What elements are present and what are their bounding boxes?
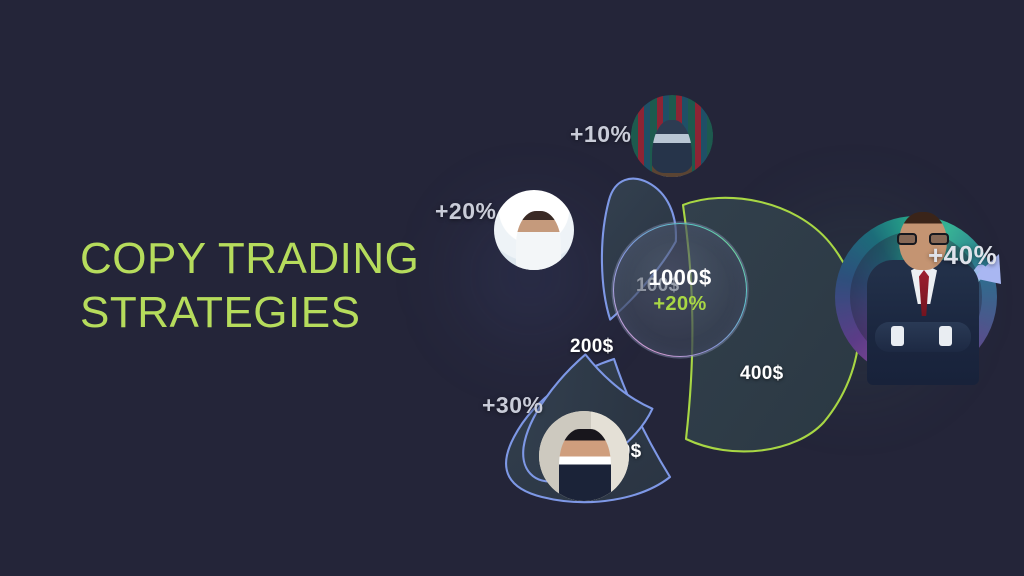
trader-badge-40[interactable]: +40%	[815, 210, 1015, 385]
trader-percent-30: +30%	[482, 392, 543, 419]
portfolio-total-hub[interactable]: 1000$ +20%	[613, 223, 747, 357]
analyst-photo	[631, 95, 713, 177]
trader-avatar-woman[interactable]	[494, 190, 574, 270]
portfolio-total-growth: +20%	[653, 293, 706, 316]
trader-percent-40: +40%	[928, 240, 997, 271]
trader-avatar-man[interactable]	[539, 411, 629, 501]
trader-avatar-analyst[interactable]	[631, 95, 713, 177]
man-photo	[539, 411, 629, 501]
copy-trading-pie-chart: 100$ 200$ 300$ 400$ 1000$ +20% +10% +20%…	[430, 85, 1024, 505]
trader-badge-20[interactable]: +20%	[435, 190, 575, 285]
pie-label-200: 200$	[570, 336, 613, 358]
woman-photo	[494, 190, 574, 270]
hero-businessman-photo	[867, 210, 979, 385]
trader-badge-10[interactable]: +10%	[570, 95, 700, 185]
page-title: COPY TRADING STRATEGIES	[80, 232, 419, 340]
trader-badge-30[interactable]: +30%	[482, 388, 632, 498]
pie-label-400: 400$	[740, 363, 783, 385]
trader-percent-20: +20%	[435, 198, 496, 225]
trader-percent-10: +10%	[570, 121, 631, 148]
portfolio-total-amount: 1000$	[648, 265, 711, 291]
